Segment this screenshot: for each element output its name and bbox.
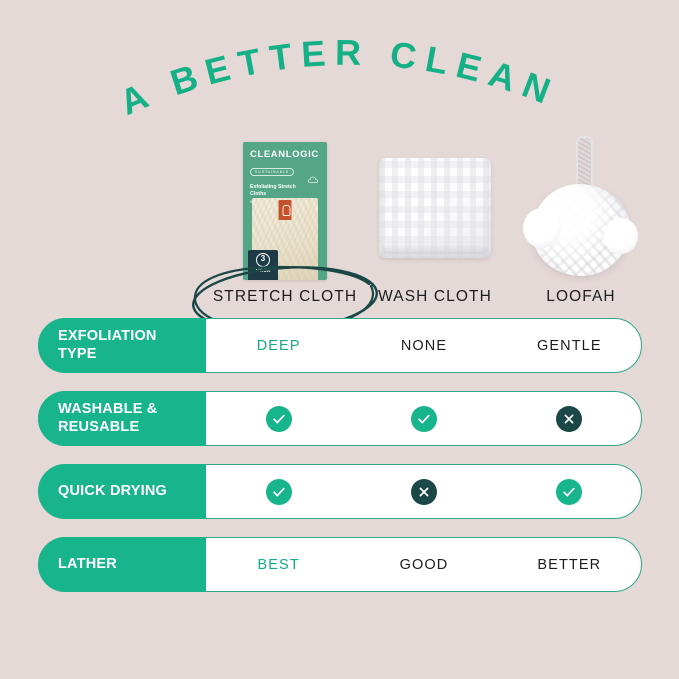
cell-wash-cloth: NONE xyxy=(351,318,496,373)
cell-stretch-cloth xyxy=(206,391,351,446)
cell-stretch-cloth: BEST xyxy=(206,537,351,592)
cell-wash-cloth xyxy=(351,391,496,446)
row-label-text: WASHABLE & REUSABLE xyxy=(58,401,157,436)
cell-value: BEST xyxy=(258,557,300,573)
row-label-washable-reusable: WASHABLE & REUSABLE xyxy=(38,391,206,446)
row-label-text: LATHER xyxy=(58,556,117,573)
loofah-graphic xyxy=(516,134,646,284)
cell-value: GENTLE xyxy=(537,338,602,354)
row-label-line: REUSABLE xyxy=(58,419,157,436)
row-label-line: TYPE xyxy=(58,346,157,363)
row-label-line: WASHABLE & xyxy=(58,401,157,418)
wash-cloth-graphic xyxy=(379,158,491,258)
row-label-line: EXFOLIATION xyxy=(58,328,157,345)
table-row: LATHER BEST GOOD BETTER xyxy=(38,537,642,592)
check-icon xyxy=(411,406,437,432)
check-icon xyxy=(556,479,582,505)
page-title-text: A BETTER CLEAN xyxy=(114,32,564,120)
column-header-loofah: LOOFAH xyxy=(486,288,676,306)
package-header: CLEANLOGIC SUSTAINABLE Exfoliating Stret… xyxy=(243,142,327,200)
row-label-line: QUICK DRYING xyxy=(58,483,167,500)
pack-count-badge: 3 Pack xyxy=(248,250,278,280)
package-description: Exfoliating Stretch Cloths xyxy=(250,184,296,198)
cell-loofah: BETTER xyxy=(497,537,642,592)
cell-stretch-cloth: DEEP xyxy=(206,318,351,373)
row-cells xyxy=(206,464,642,519)
cross-icon xyxy=(411,479,437,505)
table-row: WASHABLE & REUSABLE xyxy=(38,391,642,446)
package-tagline: SUSTAINABLE xyxy=(250,168,294,176)
cell-value: NONE xyxy=(401,338,447,354)
cell-value: BETTER xyxy=(537,557,601,573)
row-cells: DEEP NONE GENTLE xyxy=(206,318,642,373)
cell-wash-cloth: GOOD xyxy=(351,537,496,592)
row-label-text: QUICK DRYING xyxy=(58,483,167,500)
cross-icon xyxy=(556,406,582,432)
recycle-cloud-icon xyxy=(307,174,319,186)
pack-count-label: Pack xyxy=(248,268,278,274)
svg-text:A BETTER CLEAN: A BETTER CLEAN xyxy=(114,32,564,120)
package-brand-name: CLEANLOGIC xyxy=(250,150,320,160)
cell-loofah: GENTLE xyxy=(497,318,642,373)
row-label-lather: LATHER xyxy=(38,537,206,592)
page-title: A BETTER CLEAN xyxy=(0,30,679,120)
check-icon xyxy=(266,479,292,505)
package-hang-tag xyxy=(279,200,292,220)
cell-value: GOOD xyxy=(400,557,449,573)
table-row: QUICK DRYING xyxy=(38,464,642,519)
cell-loofah xyxy=(497,391,642,446)
pack-count-number: 3 xyxy=(256,253,270,267)
column-headers: STRETCH CLOTH WASH CLOTH LOOFAH xyxy=(0,288,679,320)
row-label-text: EXFOLIATION TYPE xyxy=(58,328,157,363)
cell-value: DEEP xyxy=(257,338,301,354)
loofah-mesh-ball xyxy=(532,184,630,276)
row-cells: BEST GOOD BETTER xyxy=(206,537,642,592)
comparison-table: EXFOLIATION TYPE DEEP NONE GENTLE WASHAB… xyxy=(38,318,642,610)
product-images-row: CLEANLOGIC SUSTAINABLE Exfoliating Stret… xyxy=(0,128,679,288)
row-cells xyxy=(206,391,642,446)
product-image-loofah xyxy=(486,128,676,288)
cell-loofah xyxy=(497,464,642,519)
check-icon xyxy=(266,406,292,432)
row-label-line: LATHER xyxy=(58,556,117,573)
row-label-exfoliation-type: EXFOLIATION TYPE xyxy=(38,318,206,373)
row-label-quick-drying: QUICK DRYING xyxy=(38,464,206,519)
cell-stretch-cloth xyxy=(206,464,351,519)
table-row: EXFOLIATION TYPE DEEP NONE GENTLE xyxy=(38,318,642,373)
cleanlogic-package: CLEANLOGIC SUSTAINABLE Exfoliating Stret… xyxy=(243,142,327,280)
cell-wash-cloth xyxy=(351,464,496,519)
